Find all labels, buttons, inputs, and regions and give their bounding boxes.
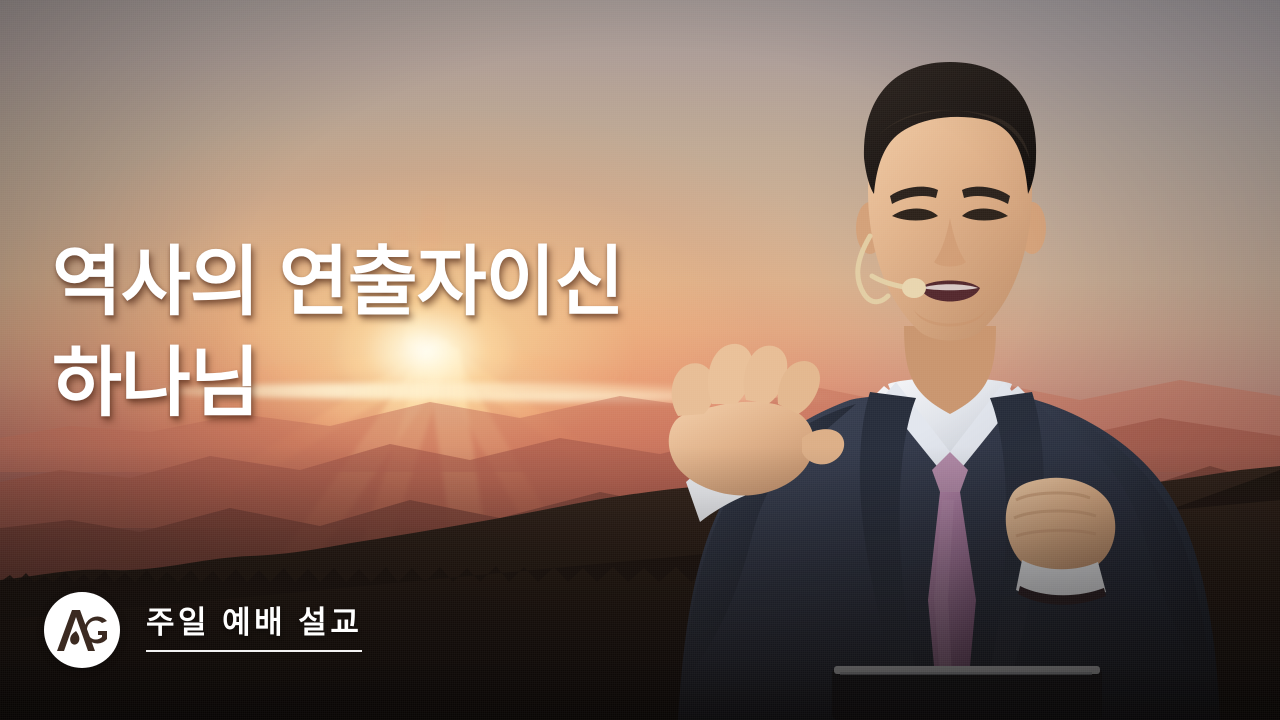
ag-monogram-icon xyxy=(55,607,109,653)
title-line-1: 역사의 연출자이신 xyxy=(52,232,812,333)
brand-footer: 주일 예배 설교 xyxy=(44,592,362,668)
title-line-2: 하나님 xyxy=(52,333,812,434)
series-label-underline xyxy=(146,650,362,652)
series-label: 주일 예배 설교 xyxy=(146,606,362,640)
sermon-title: 역사의 연출자이신 하나님 xyxy=(52,232,812,434)
sermon-thumbnail: 역사의 연출자이신 하나님 주일 예배 설교 xyxy=(0,0,1280,720)
ag-logo-badge xyxy=(44,592,120,668)
brand-text-group: 주일 예배 설교 xyxy=(146,606,362,653)
